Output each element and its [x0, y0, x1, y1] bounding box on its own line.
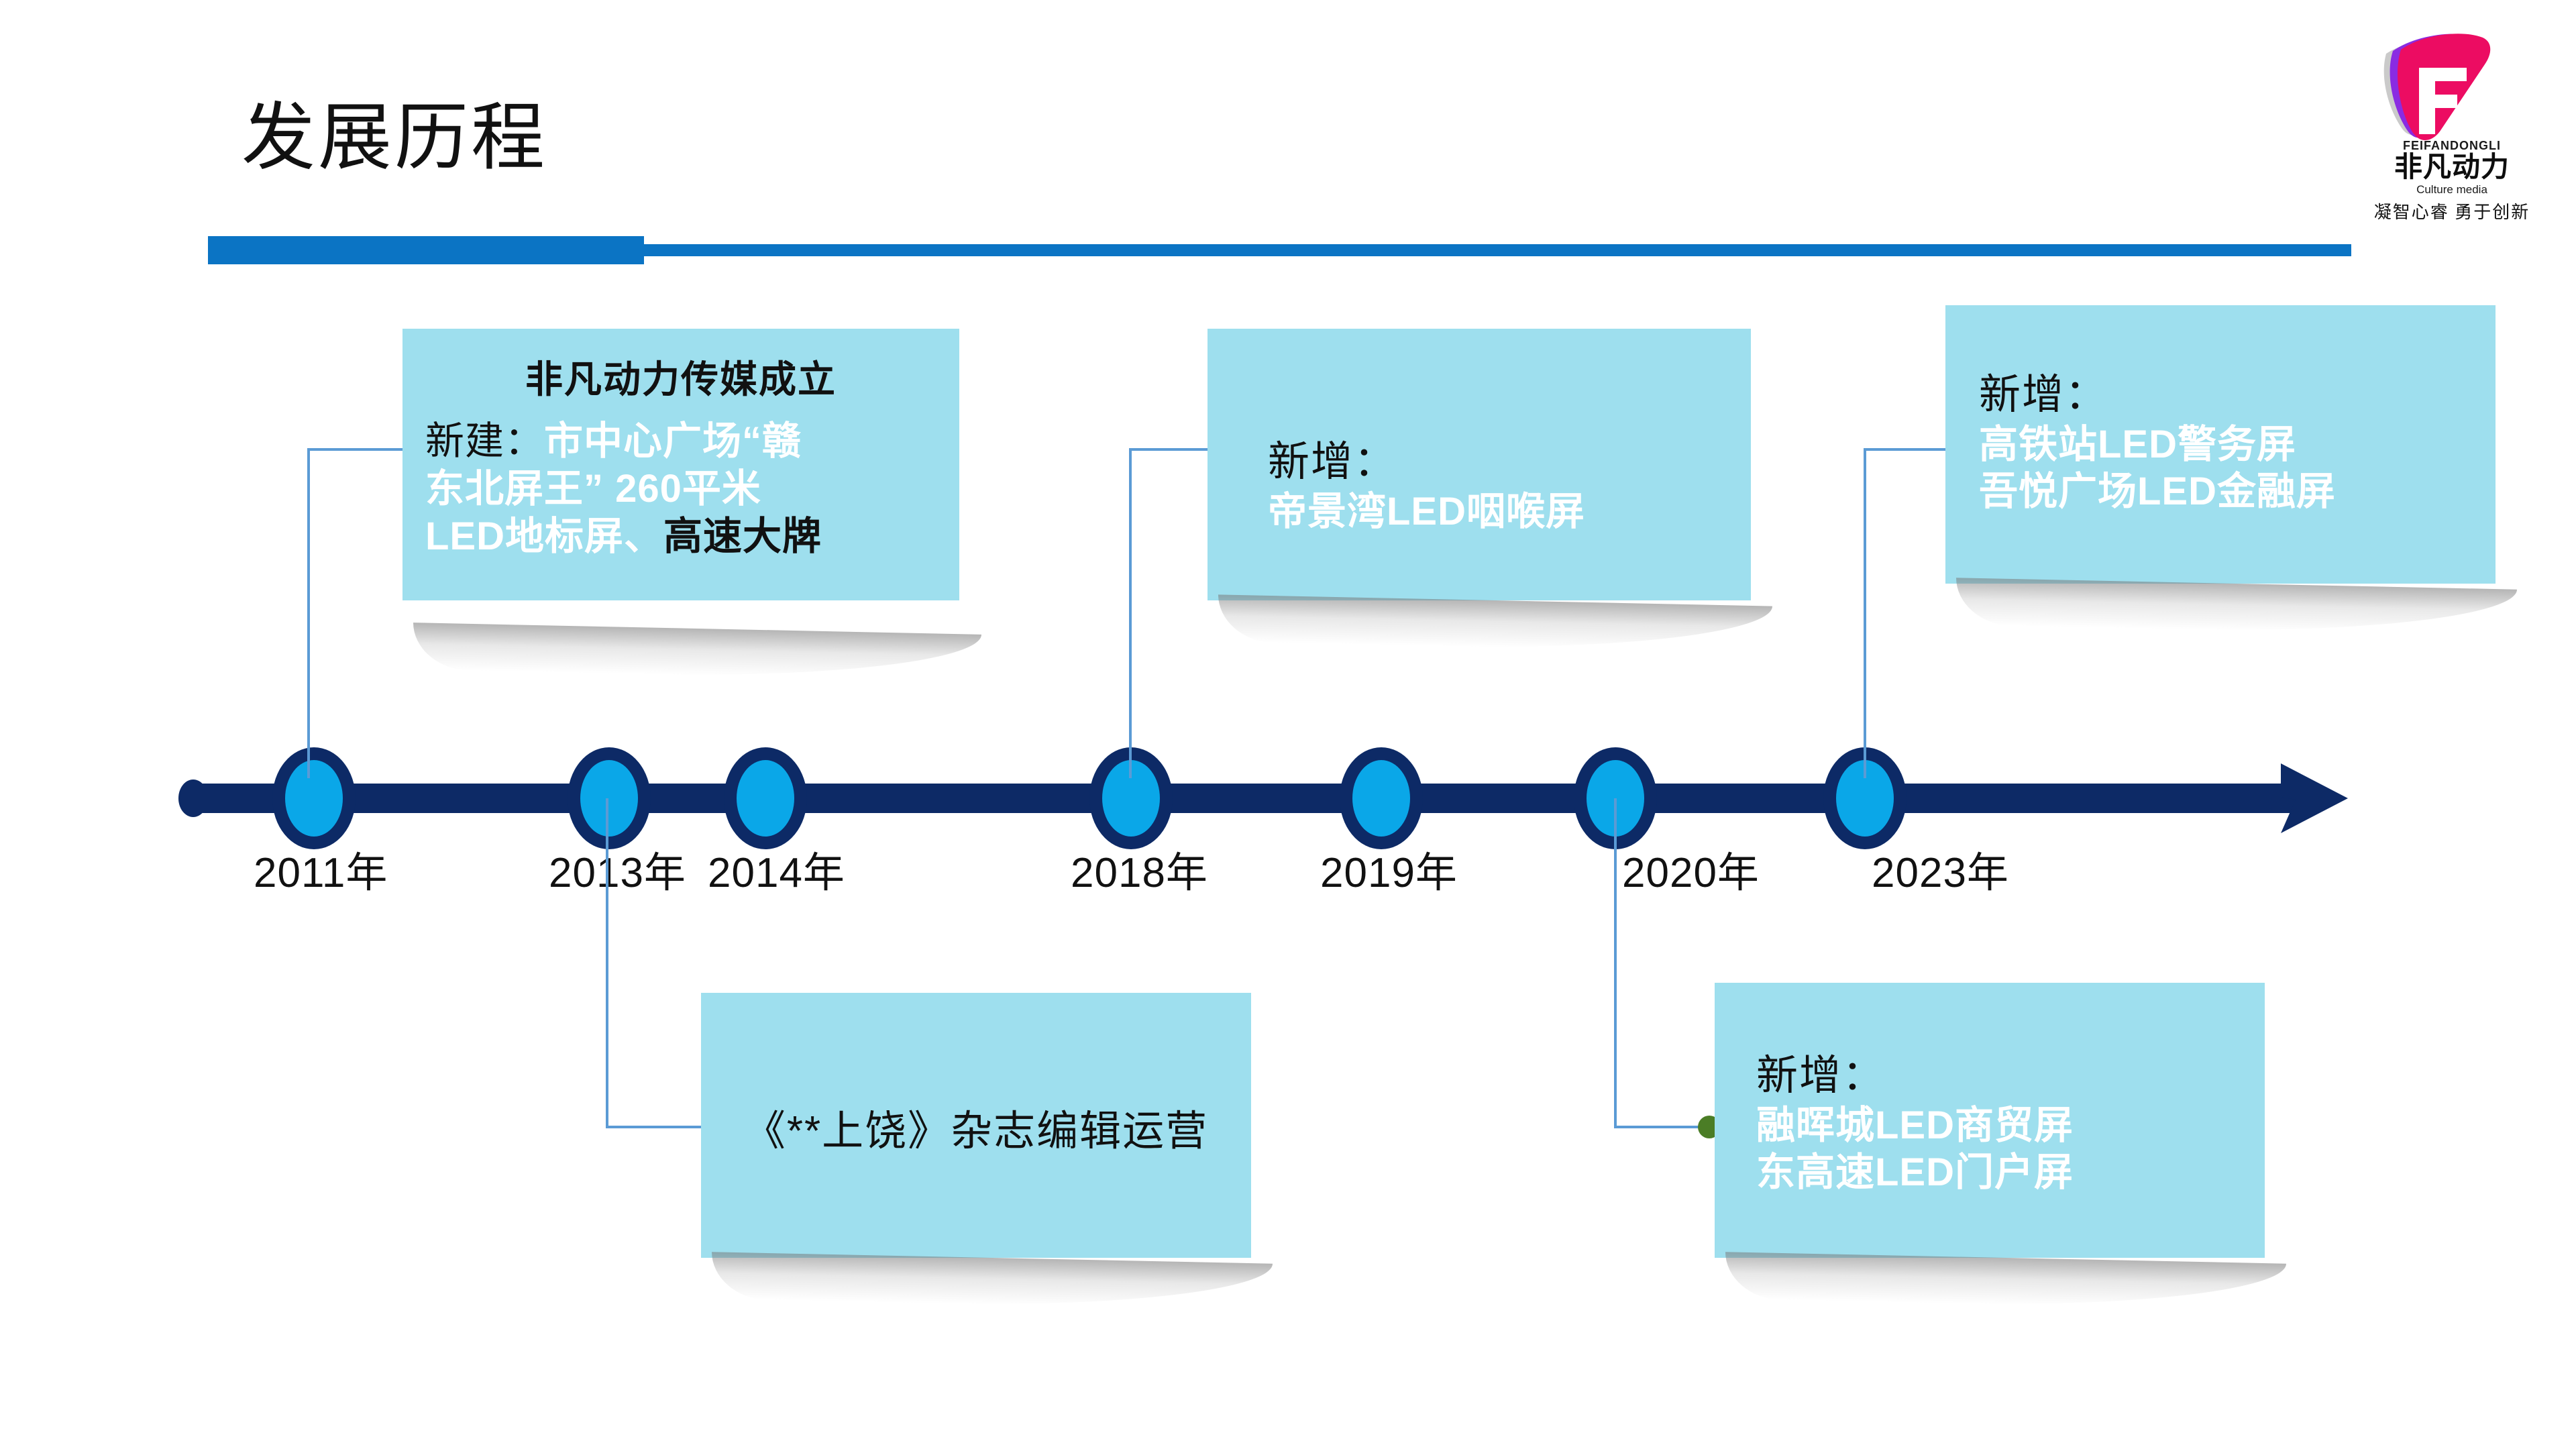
card-2011-line3-main: LED地标屏、: [425, 515, 663, 558]
timeline-node-2019: [1340, 747, 1423, 849]
card-2018[interactable]: 新增： 帝景湾LED咽喉屏: [1207, 329, 1751, 600]
card-2013-line1: 《**上饶》杂志编辑运营: [701, 1106, 1251, 1158]
axis-arrow-icon: [2281, 763, 2348, 833]
card-2023-line1: 高铁站LED警务屏: [1979, 421, 2336, 469]
year-label-2019: 2019年: [1320, 839, 1458, 899]
card-2011[interactable]: 非凡动力传媒成立 新建：市中心广场“赣 东北屏王” 260平米 LED地标屏、高…: [402, 329, 959, 600]
card-2018-line1: 帝景湾LED咽喉屏: [1268, 488, 1585, 536]
card-2020-shadow: [1725, 1252, 2286, 1311]
page-title: 发展历程: [241, 97, 547, 178]
card-2020-label: 新增：: [1756, 1050, 2074, 1102]
card-2020-line2: 东高速LED门户屏: [1756, 1149, 2074, 1197]
card-2011-line3-suffix: 高速大牌: [663, 515, 822, 558]
year-label-2018: 2018年: [1071, 839, 1208, 899]
year-label-2011: 2011年: [254, 839, 388, 899]
logo-english: Culture media: [2416, 183, 2487, 196]
card-2011-line1-main: 市中心广场“赣: [544, 419, 802, 463]
card-2020-line1: 融晖城LED商贸屏: [1756, 1102, 2074, 1150]
company-logo: FEIFANDONGLI 非凡动力 Culture media 凝智心睿 勇于创…: [2351, 12, 2553, 227]
slide-canvas: 发展历程 FEIFANDONGLI 非凡动力 Culture media 凝智心…: [0, 0, 2576, 1449]
card-2023-label: 新增：: [1979, 369, 2336, 421]
card-2023[interactable]: 新增： 高铁站LED警务屏 吾悦广场LED金融屏: [1945, 305, 2495, 584]
axis-line: [193, 784, 2300, 813]
card-2023-line2: 吾悦广场LED金融屏: [1979, 468, 2336, 516]
card-2013-shadow: [712, 1252, 1273, 1311]
year-label-2023: 2023年: [1872, 839, 2009, 899]
card-2011-line1: 新建：市中心广场“赣: [425, 418, 936, 466]
logo-mark-icon: [2384, 34, 2491, 140]
logo-pinyin: FEIFANDONGLI: [2403, 139, 2501, 152]
card-2020[interactable]: 新增： 融晖城LED商贸屏 东高速LED门户屏: [1715, 983, 2265, 1258]
card-2011-line2: 东北屏王” 260平米: [425, 466, 936, 513]
card-2011-title: 非凡动力传媒成立: [402, 357, 959, 402]
card-2018-shadow: [1218, 594, 1772, 653]
logo-name: 非凡动力: [2394, 151, 2510, 182]
card-2013[interactable]: 《**上饶》杂志编辑运营: [701, 993, 1251, 1258]
title-underline-thin: [644, 244, 2351, 256]
card-2018-label: 新增：: [1268, 436, 1585, 488]
logo-tagline: 凝智心睿 勇于创新: [2374, 203, 2530, 222]
card-2011-shadow: [413, 623, 981, 682]
title-underline-thick: [208, 236, 644, 264]
card-2011-line1-prefix: 新建：: [425, 419, 544, 463]
card-2023-shadow: [1956, 578, 2517, 637]
card-2011-line3: LED地标屏、高速大牌: [425, 513, 936, 561]
